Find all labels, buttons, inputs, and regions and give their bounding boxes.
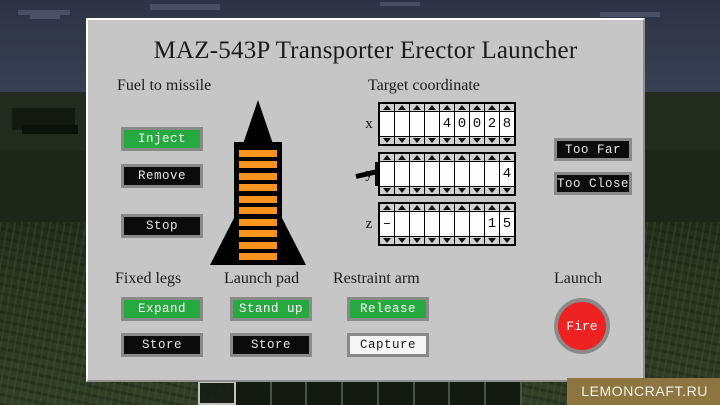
digit-column: 8 [500, 104, 514, 144]
fuel-bar [239, 173, 277, 180]
pad-stand-up-button[interactable]: Stand up [230, 297, 312, 321]
decrement-arrow-down-icon[interactable] [455, 187, 469, 194]
hotbar-slot[interactable] [307, 381, 343, 405]
decrement-arrow-down-icon[interactable] [485, 187, 499, 194]
increment-arrow-up-icon[interactable] [410, 204, 424, 211]
cloud [30, 15, 60, 19]
digit-column [470, 204, 484, 244]
digit-value[interactable] [485, 162, 499, 186]
decrement-arrow-down-icon[interactable] [410, 237, 424, 244]
digit-value[interactable] [440, 162, 454, 186]
terrain-block [22, 125, 78, 134]
inject-fuel-button[interactable]: Inject [121, 127, 203, 151]
hotbar-slot[interactable] [379, 381, 415, 405]
digit-value[interactable] [410, 212, 424, 236]
digit-column [485, 154, 499, 194]
decrement-arrow-down-icon[interactable] [410, 187, 424, 194]
digit-column [380, 104, 394, 144]
fuel-bar [239, 242, 277, 249]
launch-label: Launch [554, 270, 602, 288]
cloud [380, 2, 420, 6]
digit-column [425, 204, 439, 244]
digit-column: – [380, 204, 394, 244]
target-coordinate-section: Target coordinate x40028y4z–15 [360, 77, 540, 252]
decrement-arrow-down-icon[interactable] [500, 237, 514, 244]
coordinate-section-label: Target coordinate [368, 77, 540, 95]
digit-column: 1 [485, 204, 499, 244]
decrement-arrow-down-icon[interactable] [455, 237, 469, 244]
digit-column [425, 104, 439, 144]
legs-expand-button[interactable]: Expand [121, 297, 203, 321]
increment-arrow-up-icon[interactable] [395, 204, 409, 211]
decrement-arrow-down-icon[interactable] [455, 137, 469, 144]
digit-column: 4 [500, 154, 514, 194]
digit-value[interactable]: 0 [470, 112, 484, 136]
digit-value[interactable] [380, 162, 394, 186]
decrement-arrow-down-icon[interactable] [500, 187, 514, 194]
decrement-arrow-down-icon[interactable] [440, 237, 454, 244]
hotbar-slot[interactable] [272, 381, 308, 405]
increment-arrow-up-icon[interactable] [485, 154, 499, 161]
fixed-legs-label: Fixed legs [115, 270, 181, 288]
increment-arrow-up-icon[interactable] [485, 104, 499, 111]
too-far-button[interactable]: Too Far [554, 138, 632, 161]
decrement-arrow-down-icon[interactable] [395, 237, 409, 244]
digit-column [410, 204, 424, 244]
increment-arrow-up-icon[interactable] [440, 154, 454, 161]
decrement-arrow-down-icon[interactable] [425, 137, 439, 144]
digit-column [440, 154, 454, 194]
digit-value[interactable]: 5 [500, 212, 514, 236]
increment-arrow-up-icon[interactable] [380, 204, 394, 211]
increment-arrow-up-icon[interactable] [380, 154, 394, 161]
digit-value[interactable] [380, 112, 394, 136]
increment-arrow-up-icon[interactable] [455, 204, 469, 211]
increment-arrow-up-icon[interactable] [425, 204, 439, 211]
decrement-arrow-down-icon[interactable] [470, 187, 484, 194]
page-title: MAZ-543P Transporter Erector Launcher [88, 37, 643, 65]
digit-value[interactable]: 8 [500, 112, 514, 136]
hotbar-slot[interactable] [415, 381, 451, 405]
digit-value[interactable] [410, 112, 424, 136]
decrement-arrow-down-icon[interactable] [380, 137, 394, 144]
increment-arrow-up-icon[interactable] [455, 154, 469, 161]
increment-arrow-up-icon[interactable] [500, 204, 514, 211]
arm-release-button[interactable]: Release [347, 297, 429, 321]
increment-arrow-up-icon[interactable] [440, 204, 454, 211]
fuel-bar [239, 207, 277, 214]
digit-value[interactable] [425, 112, 439, 136]
increment-arrow-up-icon[interactable] [425, 154, 439, 161]
digit-column: 2 [485, 104, 499, 144]
increment-arrow-up-icon[interactable] [440, 104, 454, 111]
fuel-section-label: Fuel to missile [117, 77, 211, 95]
fuel-bar [239, 253, 277, 260]
digit-column [470, 154, 484, 194]
digit-column: 5 [500, 204, 514, 244]
coordinate-row-z: z–15 [360, 202, 540, 246]
digit-value[interactable] [455, 162, 469, 186]
digit-value[interactable] [395, 112, 409, 136]
decrement-arrow-down-icon[interactable] [485, 137, 499, 144]
digit-value[interactable] [470, 212, 484, 236]
digit-column [395, 104, 409, 144]
missile-nose-cone [243, 100, 273, 144]
hotbar-slot[interactable] [450, 381, 486, 405]
coordinate-row-y: y4 [360, 152, 540, 196]
digit-value[interactable] [425, 212, 439, 236]
cloud [600, 12, 660, 17]
digit-column [380, 154, 394, 194]
axis-label-x: x [360, 116, 378, 133]
hotbar-slot[interactable] [343, 381, 379, 405]
decrement-arrow-down-icon[interactable] [410, 137, 424, 144]
fuel-bar [239, 161, 277, 168]
increment-arrow-up-icon[interactable] [455, 104, 469, 111]
digit-group-x: 40028 [378, 102, 516, 146]
missile-graphic: 100.0 % [208, 100, 308, 265]
increment-arrow-up-icon[interactable] [470, 104, 484, 111]
too-close-button[interactable]: Too Close [554, 172, 632, 195]
fuel-bar [239, 184, 277, 191]
digit-column [410, 154, 424, 194]
digit-value[interactable] [395, 212, 409, 236]
increment-arrow-up-icon[interactable] [380, 104, 394, 111]
decrement-arrow-down-icon[interactable] [380, 237, 394, 244]
digit-column [440, 204, 454, 244]
digit-column: 0 [470, 104, 484, 144]
digit-column [410, 104, 424, 144]
decrement-arrow-down-icon[interactable] [470, 137, 484, 144]
increment-arrow-up-icon[interactable] [485, 204, 499, 211]
increment-arrow-up-icon[interactable] [500, 154, 514, 161]
hotbar-slot[interactable] [486, 381, 522, 405]
fuel-bar [239, 230, 277, 237]
digit-column [455, 154, 469, 194]
decrement-arrow-down-icon[interactable] [470, 237, 484, 244]
increment-arrow-up-icon[interactable] [425, 104, 439, 111]
legs-store-button[interactable]: Store [121, 333, 203, 357]
stop-fuel-button[interactable]: Stop [121, 214, 203, 238]
decrement-arrow-down-icon[interactable] [425, 187, 439, 194]
fuel-bar [239, 219, 277, 226]
digit-value[interactable]: 0 [455, 112, 469, 136]
increment-arrow-up-icon[interactable] [395, 104, 409, 111]
fuel-bar [239, 196, 277, 203]
decrement-arrow-down-icon[interactable] [440, 137, 454, 144]
decrement-arrow-down-icon[interactable] [425, 237, 439, 244]
pad-store-button[interactable]: Store [230, 333, 312, 357]
increment-arrow-up-icon[interactable] [410, 104, 424, 111]
arm-capture-button[interactable]: Capture [347, 333, 429, 357]
decrement-arrow-down-icon[interactable] [380, 187, 394, 194]
axis-label-y: y [360, 166, 378, 183]
remove-fuel-button[interactable]: Remove [121, 164, 203, 188]
increment-arrow-up-icon[interactable] [470, 154, 484, 161]
digit-value[interactable] [455, 212, 469, 236]
fuel-level-bars [239, 150, 277, 260]
hotbar-slot[interactable] [236, 381, 272, 405]
cloud [150, 4, 220, 10]
digit-value[interactable] [425, 162, 439, 186]
site-watermark: LEMONCRAFT.RU [567, 378, 720, 405]
digit-group-z: –15 [378, 202, 516, 246]
decrement-arrow-down-icon[interactable] [500, 137, 514, 144]
fire-button[interactable]: Fire [554, 298, 610, 354]
digit-value[interactable] [410, 162, 424, 186]
digit-column: 0 [455, 104, 469, 144]
decrement-arrow-down-icon[interactable] [395, 187, 409, 194]
digit-column: 4 [440, 104, 454, 144]
increment-arrow-up-icon[interactable] [395, 154, 409, 161]
digit-group-y: 4 [378, 152, 516, 196]
increment-arrow-up-icon[interactable] [410, 154, 424, 161]
hotbar-slot[interactable] [198, 381, 236, 405]
digit-value[interactable]: 4 [500, 162, 514, 186]
digit-column [395, 204, 409, 244]
hotbar[interactable] [198, 379, 522, 405]
decrement-arrow-down-icon[interactable] [395, 137, 409, 144]
restraint-arm-label: Restraint arm [333, 270, 420, 288]
axis-label-z: z [360, 216, 378, 233]
launcher-gui-panel: MAZ-543P Transporter Erector Launcher Fu… [86, 18, 645, 382]
increment-arrow-up-icon[interactable] [470, 204, 484, 211]
digit-value[interactable]: 4 [440, 112, 454, 136]
decrement-arrow-down-icon[interactable] [485, 237, 499, 244]
digit-column [455, 204, 469, 244]
decrement-arrow-down-icon[interactable] [440, 187, 454, 194]
digit-value[interactable] [395, 162, 409, 186]
coordinate-row-x: x40028 [360, 102, 540, 146]
digit-value[interactable] [470, 162, 484, 186]
missile-fin-left [210, 218, 234, 265]
missile-fin-right [282, 218, 306, 265]
digit-value[interactable]: 1 [485, 212, 499, 236]
digit-column [395, 154, 409, 194]
digit-value[interactable]: 2 [485, 112, 499, 136]
digit-column [425, 154, 439, 194]
digit-value[interactable] [440, 212, 454, 236]
digit-value[interactable]: – [380, 212, 394, 236]
fuel-bar [239, 150, 277, 157]
launch-pad-label: Launch pad [224, 270, 299, 288]
increment-arrow-up-icon[interactable] [500, 104, 514, 111]
